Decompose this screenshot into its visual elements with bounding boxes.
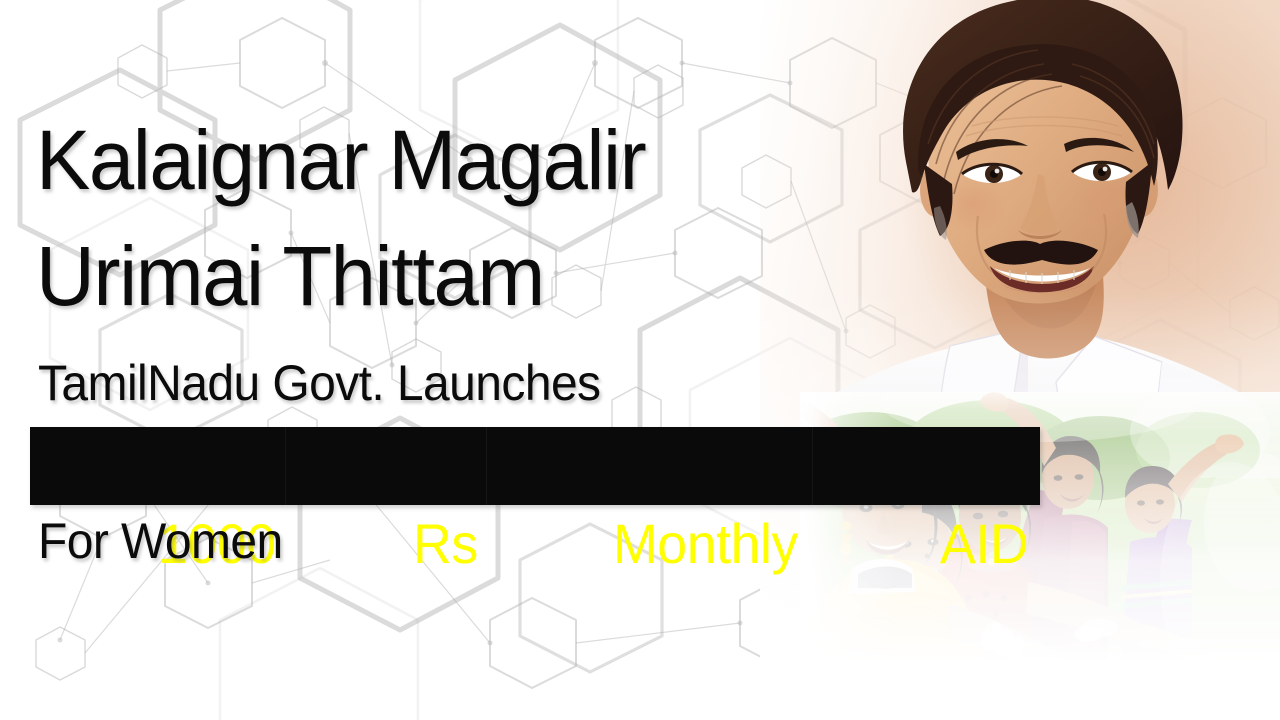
highlight-segment-amount: 1000 bbox=[30, 427, 285, 505]
subtitle-line-3: For Women bbox=[38, 516, 283, 566]
headline-line-1: Kalaignar Magalir bbox=[36, 118, 645, 202]
highlight-banner: 1000 Rs Monthly AID bbox=[30, 427, 1040, 505]
subtitle-line-1: TamilNadu Govt. Launches bbox=[38, 358, 600, 408]
highlight-segment-currency: Rs bbox=[286, 427, 486, 505]
text-content-block: Kalaignar Magalir Urimai Thittam TamilNa… bbox=[0, 0, 760, 720]
headline-line-2: Urimai Thittam bbox=[36, 234, 544, 318]
highlight-segment-frequency: Monthly bbox=[487, 427, 812, 505]
highlight-segment-aid: AID bbox=[813, 427, 1040, 505]
poster-canvas: Kalaignar Magalir Urimai Thittam TamilNa… bbox=[0, 0, 1280, 720]
